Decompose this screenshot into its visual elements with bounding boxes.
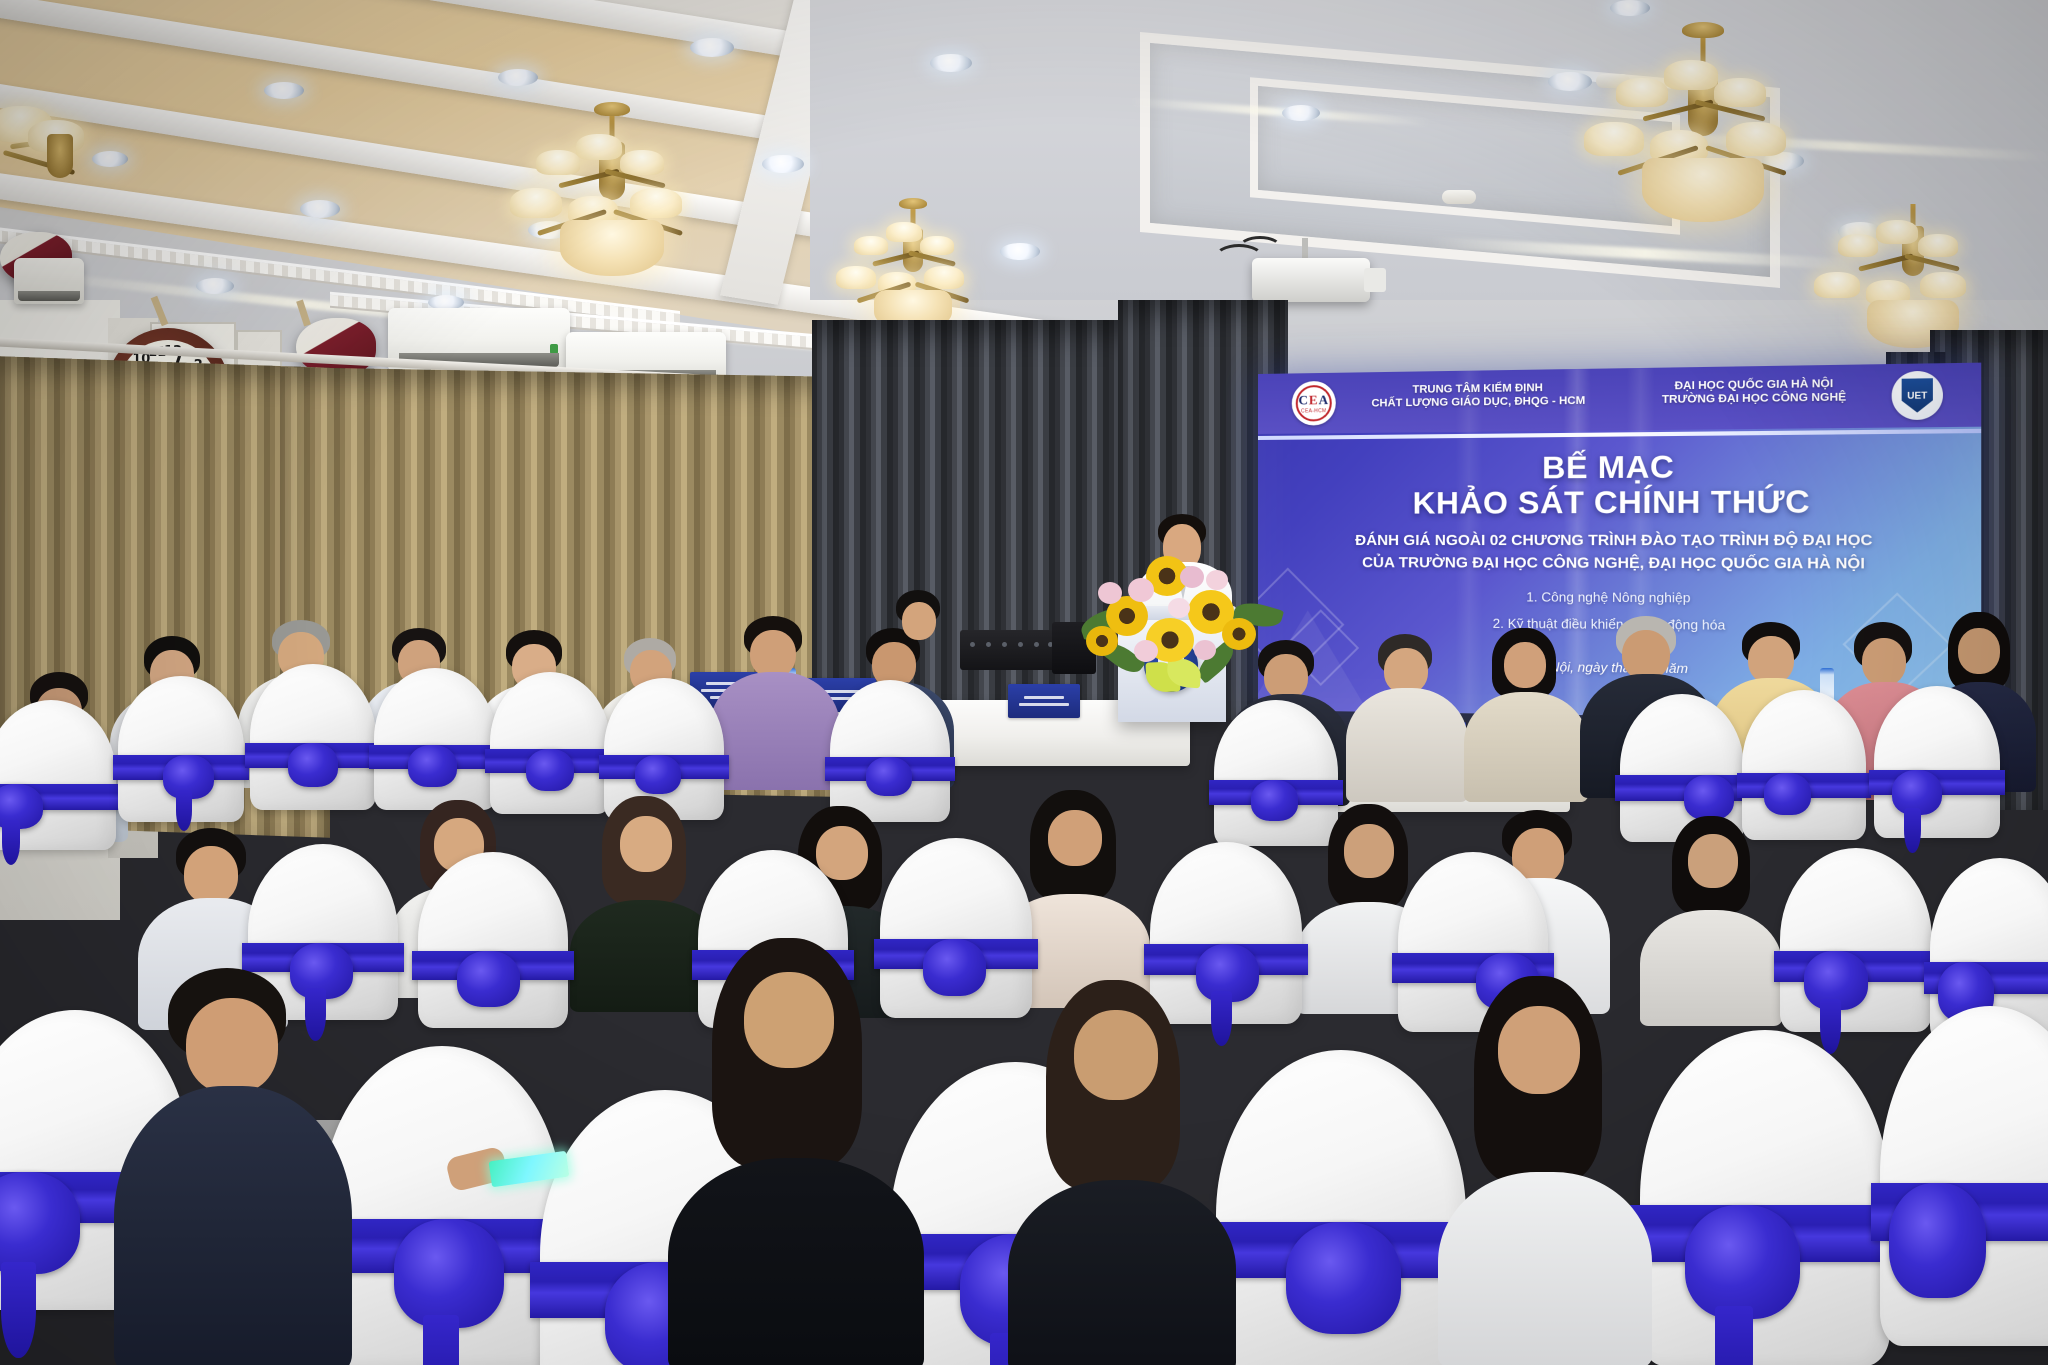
chair	[1874, 686, 2000, 838]
recessed-downlight	[300, 200, 340, 218]
recessed-downlight	[1610, 0, 1650, 16]
chandelier-shade	[510, 188, 562, 218]
screen-title-line1: BẾ MẠC	[1258, 446, 1981, 488]
rose	[1134, 640, 1158, 662]
chair-foreground	[322, 1046, 562, 1365]
rose	[1168, 598, 1190, 618]
cea-logo-letters: CEA	[1299, 392, 1329, 408]
cea-logo-subtext: CEA-HCM	[1301, 408, 1326, 414]
attendee	[1352, 634, 1462, 806]
recessed-downlight	[264, 82, 304, 99]
attendee-foreground	[128, 968, 338, 1365]
chandelier-bowl	[1642, 158, 1764, 222]
sunflower	[1222, 618, 1256, 650]
attendee-foreground	[1450, 976, 1640, 1365]
chandelier-shade	[1584, 122, 1644, 156]
screen-subtitle-line2: CỦA TRƯỜNG ĐẠI HỌC CÔNG NGHỆ, ĐẠI HỌC QU…	[1258, 554, 1981, 573]
screen-header-right-text: ĐẠI HỌC QUỐC GIA HÀ NỘI TRƯỜNG ĐẠI HỌC C…	[1625, 377, 1885, 408]
chair	[490, 672, 610, 814]
attendee	[1646, 816, 1774, 1022]
ac-indicator	[550, 344, 558, 354]
recessed-downlight	[1282, 105, 1320, 121]
attendee-foreground	[682, 938, 912, 1365]
chandelier-shade	[1664, 60, 1718, 90]
smoke-detector	[1442, 190, 1476, 204]
chandelier-left-edge	[0, 86, 130, 226]
chandelier-shade	[1616, 78, 1668, 107]
chair	[1780, 848, 1932, 1032]
chair-bow-tail	[2, 820, 20, 865]
chandelier-shade	[1726, 122, 1786, 156]
air-vent	[14, 258, 84, 304]
chandelier-shade	[1714, 78, 1766, 107]
sunflower-arrangement	[1084, 556, 1274, 686]
uet-logo-shield: UET	[1901, 378, 1933, 413]
chair	[0, 700, 116, 850]
chandelier-shade	[536, 150, 580, 175]
chair-foreground	[1640, 1030, 1890, 1365]
sunflower	[1086, 626, 1118, 656]
chair	[418, 852, 568, 1028]
chair	[830, 680, 950, 822]
ceiling-projector	[1252, 258, 1370, 302]
projector-mount-arm	[1302, 238, 1308, 260]
recessed-downlight	[196, 278, 234, 294]
recessed-downlight	[930, 54, 972, 72]
audio-mixer	[960, 630, 1064, 670]
chair-foreground	[1216, 1050, 1466, 1365]
screen-title-line2: KHẢO SÁT CHÍNH THỨC	[1258, 482, 1981, 522]
conference-hall-photo: 12 2 3 4 5 6 7 8 9 10 11 KASSI	[0, 0, 2048, 1365]
screen-program-item-1: 1. Công nghệ Nông nghiệp	[1258, 588, 1981, 607]
chair	[374, 668, 496, 810]
chandelier-shade	[620, 150, 664, 175]
name-card	[1008, 684, 1080, 718]
chandelier-shade	[576, 134, 622, 160]
recessed-downlight	[762, 155, 804, 173]
chandelier-right	[1588, 52, 1818, 252]
chandelier-left	[512, 128, 712, 298]
rose	[1180, 566, 1204, 588]
attendee	[1470, 628, 1582, 804]
rose	[1098, 582, 1122, 604]
chair	[118, 676, 244, 822]
attendee-foreground	[1022, 980, 1222, 1365]
rose	[1128, 578, 1154, 602]
chandelier-shade	[630, 188, 682, 218]
projector-cable	[1238, 236, 1282, 260]
recessed-downlight	[498, 69, 538, 86]
recessed-downlight	[1548, 72, 1592, 91]
recessed-downlight	[1000, 243, 1040, 260]
attendee	[716, 616, 834, 792]
recessed-downlight	[690, 38, 734, 57]
rose	[1194, 640, 1216, 660]
chair	[250, 664, 376, 810]
rose	[1206, 570, 1228, 590]
screen-subtitle-line1: ĐÁNH GIÁ NGOÀI 02 CHƯƠNG TRÌNH ĐÀO TẠO T…	[1258, 531, 1981, 549]
chair-foreground	[1880, 1006, 2048, 1346]
chandelier-bowl	[560, 220, 664, 276]
